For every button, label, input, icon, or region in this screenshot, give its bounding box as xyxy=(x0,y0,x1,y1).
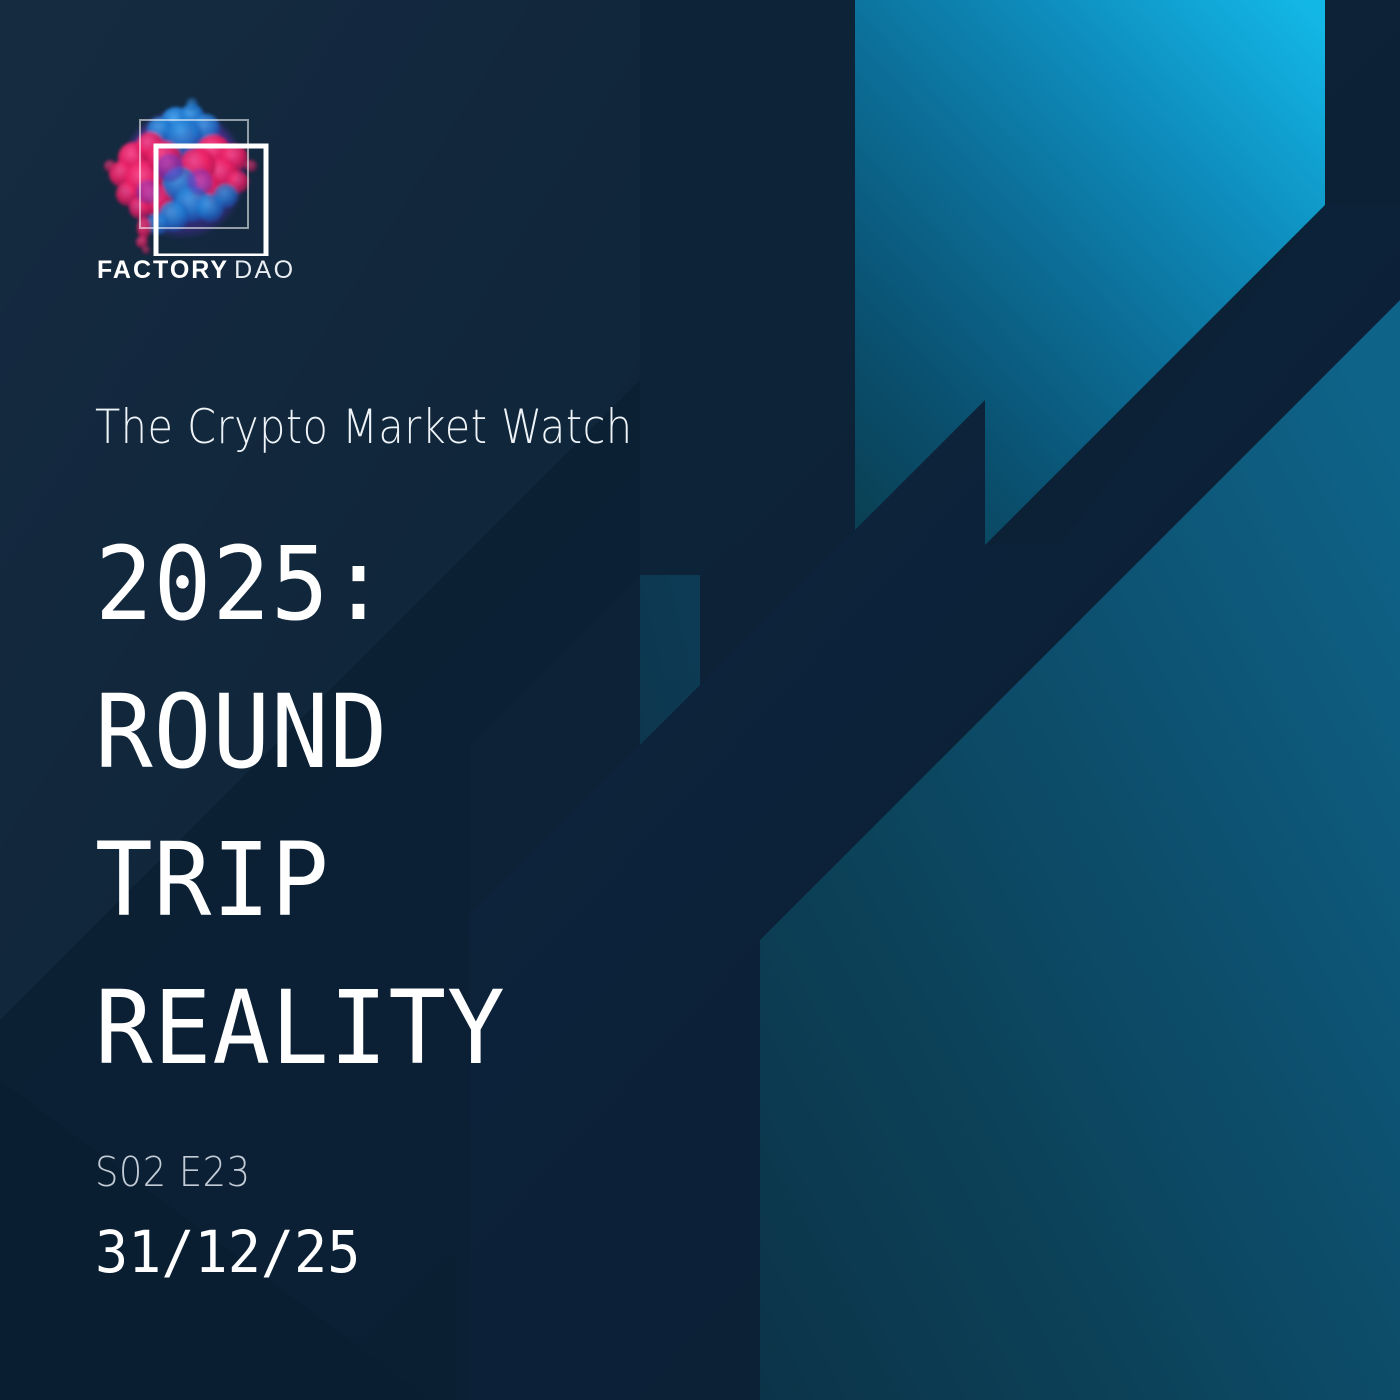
cover-text-block: The Crypto Market Watch 2025: ROUND TRIP… xyxy=(95,404,855,1103)
podcast-cover-art: FACTORY DAO The Crypto Market Watch 2025… xyxy=(0,0,1400,1400)
episode-date: 31/12/25 xyxy=(95,1218,360,1286)
brand-wordmark: FACTORY DAO xyxy=(97,256,295,285)
title-line-4: REALITY xyxy=(95,955,809,1103)
wordmark-factory: FACTORY xyxy=(97,256,229,285)
brand-logo: FACTORY DAO xyxy=(88,96,308,296)
episode-code: S02 E23 xyxy=(95,1148,346,1196)
episode-title: 2025: ROUND TRIP REALITY xyxy=(95,511,855,1103)
title-line-3: TRIP xyxy=(95,807,809,955)
title-line-1: 2025: xyxy=(95,511,809,659)
episode-meta: S02 E23 31/12/25 xyxy=(95,1148,374,1286)
show-name: The Crypto Market Watch xyxy=(95,404,764,451)
factorydao-logo-icon xyxy=(88,96,278,256)
title-line-2: ROUND xyxy=(95,659,809,807)
wordmark-dao: DAO xyxy=(234,256,295,285)
